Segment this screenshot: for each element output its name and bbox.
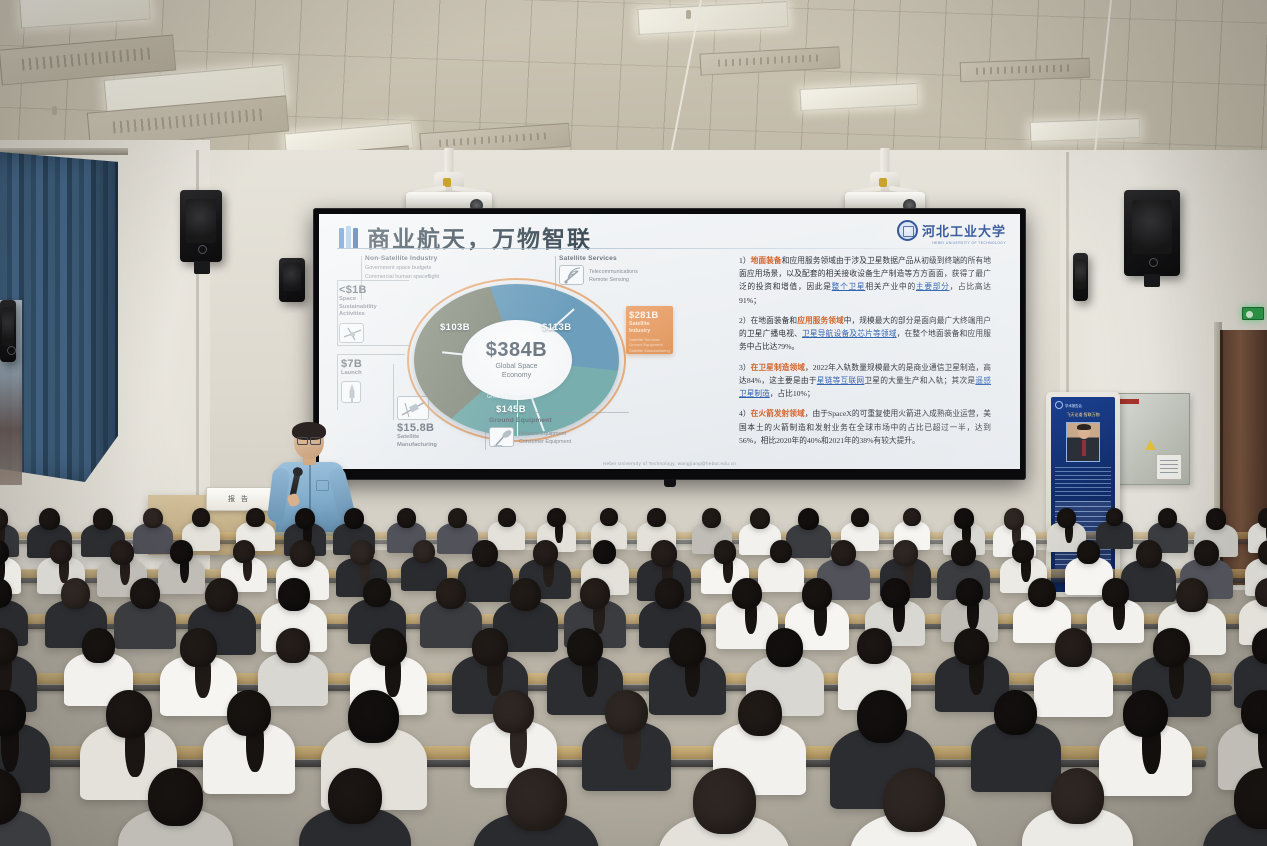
paragraph-index: 3） — [739, 363, 751, 372]
audience-head — [954, 628, 990, 665]
speaker-bracket-left — [194, 261, 210, 274]
paragraph-run-1: 在火箭发射领域 — [751, 409, 805, 418]
audience-head — [1234, 768, 1267, 829]
audience-head — [655, 578, 685, 609]
warning-triangle-icon — [1145, 440, 1156, 450]
audience-head — [533, 540, 558, 566]
lecture-hall-photo: 商业航天，万物智联 河北工业大学 HEBEI UNIVERSITY OF TEC… — [0, 0, 1267, 846]
title-underline — [337, 248, 1009, 249]
audience-head — [580, 578, 610, 609]
audience-head — [397, 508, 416, 528]
audience-head — [1136, 540, 1162, 568]
audience-head — [702, 508, 721, 528]
audience-head — [651, 540, 677, 567]
donut-slice-label-satellite-services: $113B — [542, 322, 571, 333]
wall-speaker-back-left — [279, 258, 305, 302]
audience-head — [1055, 628, 1093, 667]
audience-head — [413, 540, 435, 563]
callout-box-launch — [337, 354, 405, 410]
audience-head — [510, 578, 541, 611]
callout-box-satellite-manufacturing — [393, 364, 394, 420]
audience-member — [850, 768, 979, 846]
projector-pole — [881, 148, 890, 174]
callout-box-space-sustainability — [337, 280, 409, 346]
audience-head — [276, 628, 309, 663]
exit-sign-icon — [1242, 307, 1264, 320]
projector-pole — [445, 148, 454, 174]
slide-paragraph-1: 1）地面装备和应用服务领域由于涉及卫星数据产品从初级到终端的所有地面应用场景，以… — [739, 254, 991, 307]
audience-head — [881, 578, 910, 608]
presenter-glasses — [297, 437, 321, 443]
audience-area — [0, 500, 1267, 846]
satellite-industry-amount: $281B — [629, 310, 670, 321]
audience-head — [770, 540, 792, 563]
audience-member — [299, 768, 411, 846]
paragraph-run-4: 卫星的大量生产和入轨；其次是 — [864, 376, 975, 385]
satellite-services-lines: Telecommunications Remote Sensing — [589, 268, 679, 285]
audience-head — [328, 768, 382, 824]
paragraph-run-3: 星链等互联网 — [817, 376, 865, 385]
audience-head — [600, 508, 617, 526]
audience-head — [1258, 508, 1267, 528]
audience-head — [798, 508, 819, 530]
audience-head — [246, 508, 264, 527]
speaker-logo-icon — [7, 346, 16, 355]
sprinkler-head-3 — [686, 10, 691, 19]
audience-head — [1158, 508, 1177, 528]
audience-head — [567, 628, 604, 666]
presenter-shirt-pocket — [316, 480, 329, 491]
paragraph-run-4: 相关产业中的 — [865, 282, 916, 291]
paragraph-run-4: 卫星导航设备及芯片等领域 — [802, 329, 897, 338]
paragraph-run-3: 整个卫星 — [832, 282, 866, 291]
audience-head — [61, 578, 91, 609]
audience-head — [82, 628, 115, 663]
donut-slice-sub-ground-equipment: Ground Equipment — [487, 394, 534, 400]
audience-member — [1203, 768, 1267, 846]
paragraph-index: 2） — [739, 316, 751, 325]
audience-head — [1252, 628, 1267, 664]
audience-head — [506, 768, 566, 831]
audience-head — [1004, 508, 1025, 530]
paragraph-run-6: ，占比10%； — [770, 389, 815, 398]
audience-head — [350, 540, 374, 565]
audience-head — [593, 540, 616, 564]
audience-head — [750, 508, 770, 529]
audience-head — [647, 508, 665, 527]
poster-seal-icon — [1055, 401, 1063, 409]
audience-head — [493, 690, 534, 733]
ground-equipment-leader-line — [485, 412, 629, 450]
panel-label-strip — [1119, 399, 1139, 404]
audience-head — [1102, 578, 1130, 607]
audience-head — [903, 508, 921, 526]
presentation-display[interactable]: 商业航天，万物智联 河北工业大学 HEBEI UNIVERSITY OF TEC… — [313, 208, 1026, 480]
electrical-panel — [1112, 393, 1190, 485]
audience-head — [436, 578, 466, 609]
audience-head — [732, 578, 762, 609]
paragraph-run-1: 地面装备 — [751, 256, 782, 265]
paragraph-run-1: 在地面装备和 — [751, 316, 798, 325]
audience-member — [118, 768, 233, 846]
audience-head — [738, 690, 782, 736]
audience-head — [994, 690, 1037, 735]
paragraph-run-5: 主要部分 — [916, 282, 950, 291]
audience-head — [893, 540, 917, 566]
audience-head — [180, 628, 217, 667]
audience-head — [1051, 768, 1104, 824]
audience-head — [472, 628, 508, 666]
audience-head — [1123, 690, 1168, 737]
audience-head — [693, 768, 756, 834]
panel-notice-sheet — [1156, 454, 1182, 480]
audience-head — [290, 540, 315, 567]
audience-head — [802, 578, 833, 610]
wall-speaker-right — [1124, 190, 1180, 276]
satellite-industry-note: Satellite Services Ground Equipment Sate… — [629, 337, 670, 359]
audience-head — [143, 508, 162, 528]
slide-paragraph-4: 4）在火箭发射领域，由于SpaceX的可重复使用火箭进入成熟商业运营，美国本土的… — [739, 407, 991, 447]
audience-head — [1106, 508, 1123, 526]
audience-member — [0, 768, 51, 846]
audience-head — [1258, 540, 1267, 565]
speaker-logo-icon — [198, 245, 207, 254]
title-accent-bars-icon — [339, 226, 358, 249]
audience-head — [766, 628, 803, 667]
university-name: 河北工业大学 — [922, 221, 1006, 240]
audience-head — [370, 628, 407, 666]
paragraph-run-1: 在卫星制造领域 — [751, 363, 805, 372]
university-seal-icon — [897, 220, 918, 241]
speaker-bracket-right — [1144, 274, 1160, 287]
poster-speaker-photo — [1066, 422, 1100, 462]
audience-head — [951, 540, 976, 566]
audience-head — [1206, 508, 1227, 530]
paragraph-run-2: 应用服务领域 — [797, 316, 844, 325]
satellite-industry-box: $281B Satellite Industry Satellite Servi… — [626, 306, 673, 354]
audience-head — [348, 690, 399, 743]
audience-head — [363, 578, 391, 607]
display-stand — [664, 479, 676, 487]
audience-head — [205, 578, 238, 612]
audience-head — [669, 628, 706, 667]
audience-head — [605, 690, 648, 734]
ceiling-light-6 — [1030, 118, 1141, 142]
audience-head — [498, 508, 516, 527]
non-satellite-title: Non-Satellite Industry — [365, 254, 505, 264]
donut-total-amount: $384B — [486, 339, 547, 362]
audience-head — [192, 508, 210, 527]
audience-member — [473, 768, 599, 846]
poster-title: 飞天论道·智联万物 — [1055, 412, 1111, 418]
paragraph-index: 4） — [739, 409, 751, 418]
antenna-glyph — [560, 266, 584, 285]
audience-head — [1153, 628, 1191, 667]
sprinkler-head-1 — [52, 106, 57, 115]
audience-head — [50, 540, 73, 564]
audience-head — [714, 540, 737, 564]
audience-head — [110, 540, 134, 565]
antenna-icon — [559, 265, 584, 285]
audience-head — [954, 508, 974, 529]
university-logo: 河北工业大学 — [897, 220, 1006, 241]
satellite-services-line-1: Telecommunications — [589, 268, 679, 276]
audience-head — [1012, 540, 1034, 563]
audience-head — [93, 508, 114, 530]
audience-member — [658, 768, 790, 846]
wall-speaker-left — [180, 190, 222, 262]
speaker-logo-icon — [1149, 258, 1158, 267]
non-satellite-industry-block: Non-Satellite Industry Government space … — [365, 254, 505, 281]
wall-speaker-right-far — [1073, 253, 1088, 301]
callout-label: Satellite Manufacturing — [397, 434, 477, 449]
audience-head — [233, 540, 255, 563]
audience-head — [851, 508, 869, 527]
audience-head — [883, 768, 945, 832]
audience-head — [857, 628, 892, 664]
audience-head — [448, 508, 468, 528]
satellite-industry-label: Satellite Industry — [629, 321, 670, 335]
donut-slice-label-non-satellite: $103B — [440, 322, 470, 333]
audience-head — [1176, 578, 1209, 612]
satellite-services-title: Satellite Services — [559, 254, 677, 264]
audience-head — [956, 578, 983, 606]
audience-head — [148, 768, 203, 826]
audience-head — [295, 508, 315, 529]
slide-text-column: 1）地面装备和应用服务领域由于涉及卫星数据产品从初级到终端的所有地面应用场景，以… — [739, 254, 991, 454]
non-satellite-line-1: Government space budgets — [365, 264, 505, 272]
audience-head — [227, 690, 271, 736]
space-economy-infographic: Non-Satellite Industry Government space … — [337, 254, 733, 450]
poster-body-text — [1055, 467, 1111, 497]
wall-speaker-left-far — [0, 300, 16, 362]
satellite-services-block: Satellite Services — [559, 254, 677, 264]
poster-header: 学术报告会 — [1065, 403, 1082, 408]
audience-head — [472, 540, 498, 567]
audience-head — [1194, 540, 1219, 566]
paragraph-index: 1） — [739, 256, 751, 265]
audience-member — [1022, 768, 1133, 846]
audience-head — [857, 690, 907, 743]
audience-head — [278, 578, 309, 611]
slide-paragraph-2: 2）在地面装备和应用服务领域中，规模最大的部分是面向最广大终端用户的卫星广播电视… — [739, 314, 991, 354]
audience-head — [547, 508, 566, 527]
audience-head — [106, 690, 152, 738]
slide-canvas: 商业航天，万物智联 河北工业大学 HEBEI UNIVERSITY OF TEC… — [319, 214, 1020, 469]
audience-head — [1028, 578, 1056, 607]
audience-head — [344, 508, 364, 529]
audience-head — [170, 540, 193, 564]
slide-footer: Hebei University of Technology, wangjian… — [319, 461, 1020, 466]
audience-head — [831, 540, 856, 566]
slide-paragraph-3: 3）在卫星制造领域，2022年入轨数量规模最大的是商业通信卫星制造，高达84%，… — [739, 361, 991, 401]
donut-total-label: Global Space Economy — [495, 363, 537, 381]
audience-head — [39, 508, 60, 530]
audience-head — [1057, 508, 1076, 528]
audience-head — [1077, 540, 1100, 564]
audience-head — [130, 578, 160, 609]
university-name-english: HEBEI UNIVERSITY OF TECHNOLOGY — [932, 241, 1006, 245]
